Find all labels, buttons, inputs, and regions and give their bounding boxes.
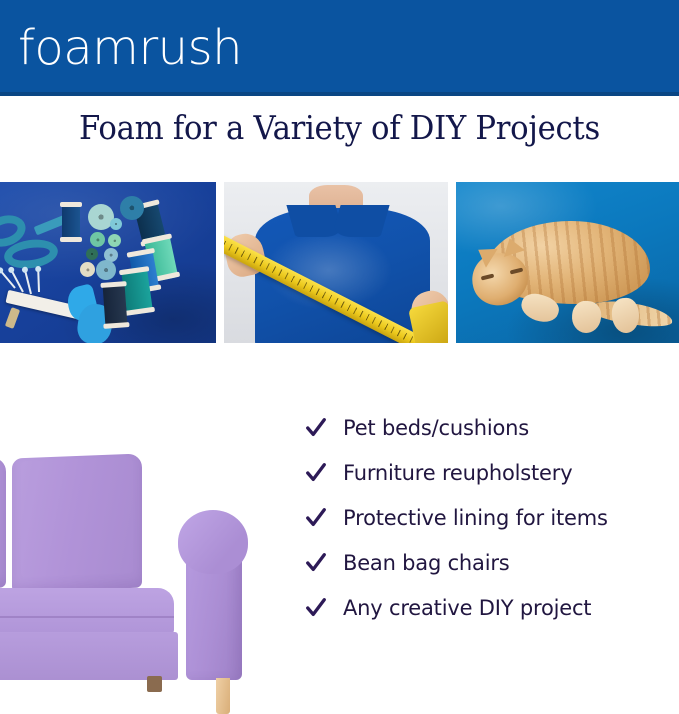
list-item: Bean bag chairs <box>305 543 679 583</box>
page-title: Foam for a Variety of DIY Projects <box>24 108 655 147</box>
list-item: Protective lining for items <box>305 498 679 538</box>
shirt-collar-right <box>331 205 389 237</box>
sofa-arm-roll <box>178 510 248 574</box>
sofa-leg-back <box>147 676 162 692</box>
brand-logo: foamrush <box>18 24 242 72</box>
button-small <box>108 234 121 247</box>
list-item-label: Any creative DIY project <box>343 596 591 620</box>
sofa-seat-cushions <box>0 588 174 634</box>
photo-strip <box>0 182 679 343</box>
lavender-sofa-illustration <box>0 440 258 679</box>
sofa-back-cushion-right <box>12 454 142 593</box>
check-icon <box>305 552 327 574</box>
button-large <box>120 196 144 220</box>
sofa-seat-seam <box>0 616 174 618</box>
list-item: Any creative DIY project <box>305 588 679 628</box>
check-icon <box>305 462 327 484</box>
button-small <box>80 262 95 277</box>
list-item: Furniture reupholstery <box>305 453 679 493</box>
thread-spool <box>102 281 127 328</box>
header-underline <box>0 92 679 96</box>
tape-measure-case <box>408 301 448 343</box>
sofa-back-cushion-left <box>0 457 6 588</box>
list-item-label: Pet beds/cushions <box>343 416 529 440</box>
list-item: Pet beds/cushions <box>305 408 679 448</box>
list-item-label: Bean bag chairs <box>343 551 510 575</box>
tape-measure-photo <box>224 182 448 343</box>
list-item-label: Protective lining for items <box>343 506 608 530</box>
sofa-leg-front <box>216 678 230 714</box>
button-small <box>110 218 122 230</box>
check-icon <box>305 597 327 619</box>
list-item-label: Furniture reupholstery <box>343 461 572 485</box>
button-small <box>86 248 98 260</box>
check-icon <box>305 417 327 439</box>
header-bar: foamrush <box>0 0 679 96</box>
thread-spool <box>62 202 80 242</box>
sewing-supplies-photo <box>0 182 216 343</box>
check-icon <box>305 507 327 529</box>
button-small <box>90 232 105 247</box>
sofa-base <box>0 632 178 680</box>
cat-on-beanbag-photo <box>456 182 679 343</box>
feature-list: Pet beds/cushions Furniture reupholstery… <box>305 408 679 633</box>
button-medium <box>96 260 116 280</box>
